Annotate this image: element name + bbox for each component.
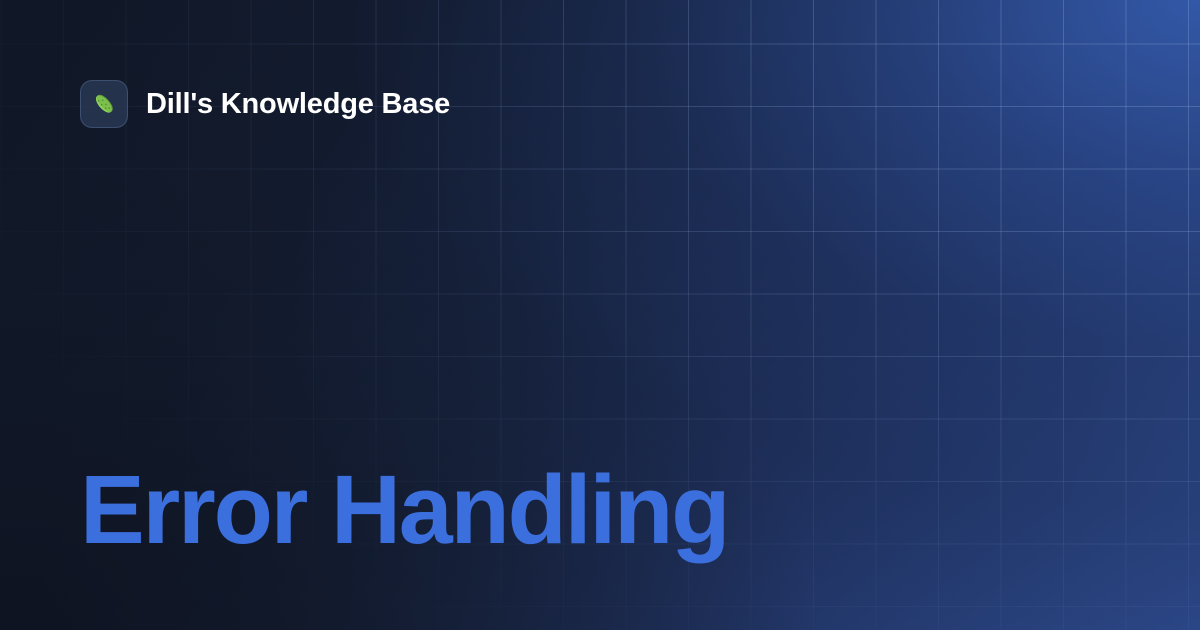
- page-title: Error Handling: [80, 461, 728, 558]
- brand-name: Dill's Knowledge Base: [146, 90, 450, 119]
- brand-header: Dill's Knowledge Base: [80, 80, 450, 128]
- og-card: Dill's Knowledge Base Error Handling: [0, 0, 1200, 630]
- brand-logo-tile: [80, 80, 128, 128]
- card-content: Dill's Knowledge Base Error Handling: [0, 0, 1200, 630]
- pickle-icon: [89, 89, 119, 119]
